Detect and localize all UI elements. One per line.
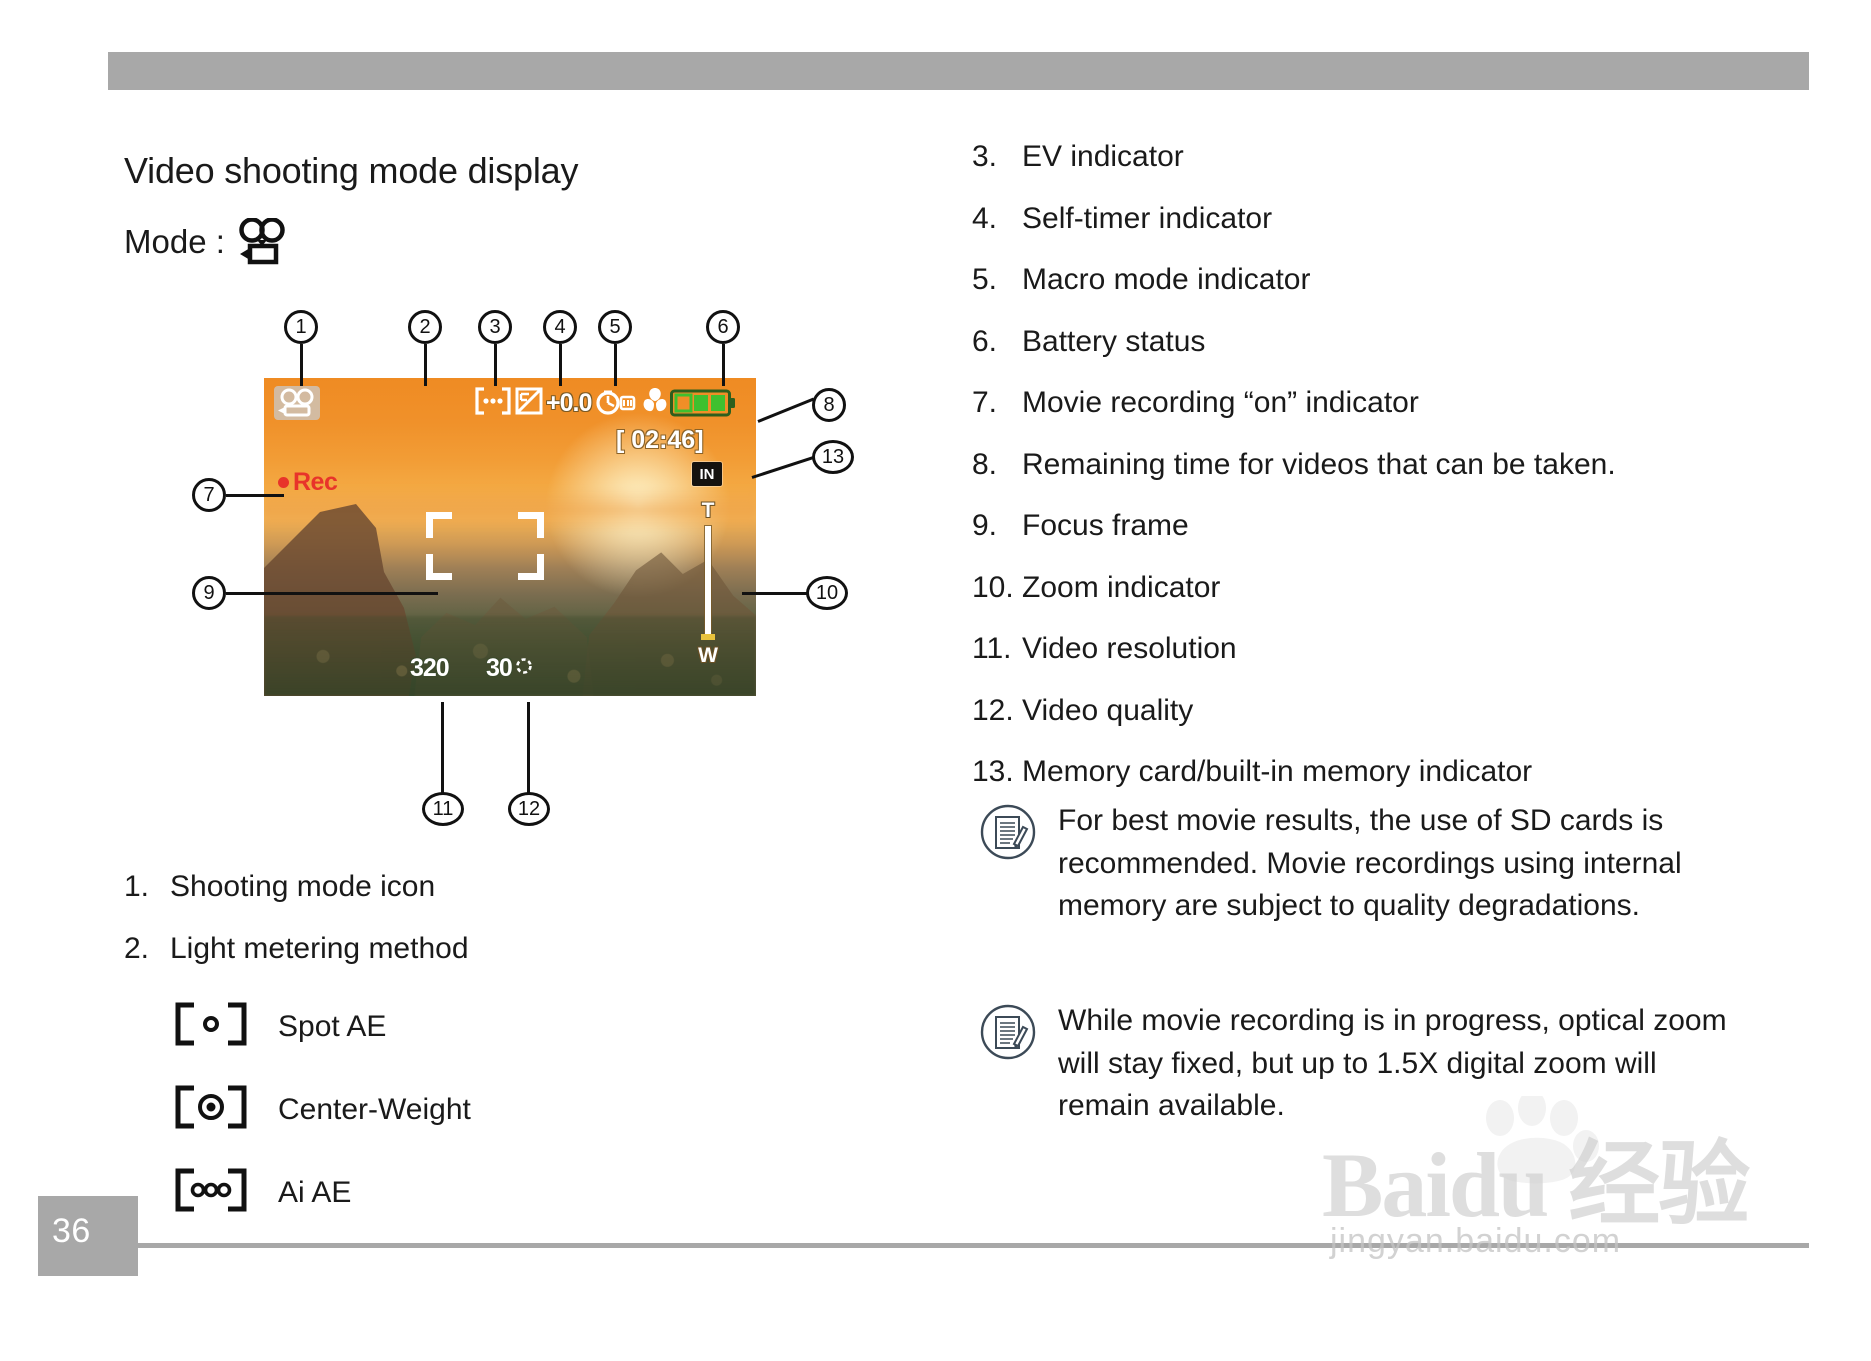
- center-weight-icon: [170, 1083, 252, 1136]
- list-item-label: Memory card/built-in memory indicator: [1022, 755, 1532, 790]
- leader-1: [300, 344, 303, 386]
- page-number: 36: [52, 1212, 91, 1251]
- list-item-label: Remaining time for videos that can be ta…: [1022, 448, 1616, 483]
- callout-6: 6: [706, 310, 740, 344]
- osd-video-quality: 30: [486, 654, 534, 683]
- list-item-number: 1.: [124, 870, 170, 904]
- osd-rec-indicator: Rec: [278, 470, 337, 495]
- list-item: 1. Shooting mode icon: [124, 870, 764, 904]
- callout-5: 5: [598, 310, 632, 344]
- zoom-wide-label: W: [696, 645, 720, 666]
- list-item-number: 9.: [972, 509, 1022, 543]
- mode-row: Mode :: [124, 218, 291, 266]
- osd-self-timer-icon: [594, 386, 636, 421]
- metering-option-spot: Spot AE: [170, 1000, 471, 1053]
- leader-3: [494, 344, 497, 386]
- list-item-number: 12.: [972, 694, 1022, 728]
- note-text: While movie recording is in progress, op…: [1058, 1000, 1740, 1128]
- focus-corner-top-left: [426, 512, 452, 538]
- leader-13: [752, 456, 814, 479]
- callout-7: 7: [192, 478, 226, 512]
- osd-memory-indicator: IN: [692, 462, 722, 486]
- note-pad-icon: [980, 804, 1036, 928]
- osd-top-icon-cluster: +0.0: [474, 386, 671, 421]
- osd-video-quality-value: 30: [486, 654, 512, 683]
- metering-legend: Spot AE Center-Weight: [170, 1000, 471, 1249]
- leader-6: [722, 344, 725, 386]
- list-item: 6. Battery status: [972, 325, 1692, 360]
- osd-shooting-mode-icon: [274, 386, 320, 425]
- lcd-preview: +0.0: [264, 378, 756, 696]
- list-item: 10. Zoom indicator: [972, 571, 1692, 606]
- watermark-url: jingyan.baidu.com: [1330, 1222, 1621, 1261]
- list-item-label: Battery status: [1022, 325, 1205, 360]
- callout-13: 13: [812, 440, 854, 474]
- list-item: 3. EV indicator: [972, 140, 1692, 175]
- focus-corner-bottom-right: [518, 554, 544, 580]
- header-bar: [108, 52, 1809, 90]
- list-item-number: 6.: [972, 325, 1022, 359]
- list-item-number: 5.: [972, 263, 1022, 297]
- manual-page: 36 Video shooting mode display Mode :: [0, 0, 1871, 1361]
- left-legend-list: 1. Shooting mode icon 2. Light metering …: [124, 870, 764, 994]
- callout-11: 11: [422, 792, 464, 826]
- osd-remaining-time: [ 02:46]: [616, 426, 704, 455]
- note-pad-icon: [980, 1004, 1036, 1128]
- spot-ae-icon: [170, 1000, 252, 1053]
- callout-2: 2: [408, 310, 442, 344]
- list-item-number: 10.: [972, 571, 1022, 605]
- list-item: 7. Movie recording “on” indicator: [972, 386, 1692, 421]
- callout-1: 1: [284, 310, 318, 344]
- list-item-label: Macro mode indicator: [1022, 263, 1310, 298]
- right-legend-list: 3. EV indicator 4. Self-timer indicator …: [972, 140, 1692, 817]
- leader-5: [614, 344, 617, 386]
- list-item: 8. Remaining time for videos that can be…: [972, 448, 1692, 483]
- osd-ev-value: +0.0: [546, 391, 591, 416]
- leader-2: [424, 344, 427, 386]
- movie-camera-icon: [235, 218, 291, 266]
- zoom-position-marker: [701, 634, 715, 640]
- list-item-label: Self-timer indicator: [1022, 202, 1272, 237]
- list-item: 2. Light metering method: [124, 932, 764, 966]
- list-item-number: 11.: [972, 632, 1022, 666]
- osd-battery-icon: [670, 388, 736, 423]
- page-title: Video shooting mode display: [124, 150, 578, 192]
- list-item: 13. Memory card/built-in memory indicato…: [972, 755, 1692, 790]
- callout-3: 3: [478, 310, 512, 344]
- metering-option-label: Spot AE: [278, 1010, 386, 1044]
- metering-option-ai-ae: Ai AE: [170, 1166, 471, 1219]
- osd-focus-frame: [426, 512, 544, 580]
- lcd-screen: +0.0: [264, 378, 756, 696]
- record-dot-icon: [278, 477, 289, 488]
- list-item-number: 13.: [972, 755, 1022, 789]
- list-item-label: Light metering method: [170, 932, 469, 966]
- watermark-brand: Baidu 经验: [1322, 1110, 1748, 1243]
- fps-circle-icon: [514, 654, 534, 683]
- leader-7: [226, 494, 284, 497]
- list-item-number: 4.: [972, 202, 1022, 236]
- callout-9: 9: [192, 576, 226, 610]
- list-item-label: Movie recording “on” indicator: [1022, 386, 1419, 421]
- list-item-number: 7.: [972, 386, 1022, 420]
- list-item: 4. Self-timer indicator: [972, 202, 1692, 237]
- osd-rec-label: Rec: [293, 470, 337, 495]
- list-item-label: Focus frame: [1022, 509, 1189, 544]
- mode-label: Mode :: [124, 223, 225, 261]
- list-item: 11. Video resolution: [972, 632, 1692, 667]
- osd-video-resolution: 320: [410, 654, 449, 683]
- list-item-label: EV indicator: [1022, 140, 1184, 175]
- leader-8: [757, 398, 814, 423]
- osd-ev-icon: [515, 387, 543, 420]
- callout-4: 4: [543, 310, 577, 344]
- leader-12: [527, 702, 530, 794]
- leader-9: [226, 592, 438, 595]
- zoom-tele-label: T: [696, 500, 720, 521]
- list-item-number: 8.: [972, 448, 1022, 482]
- osd-zoom-indicator: T W: [696, 500, 720, 666]
- leader-4: [559, 344, 562, 386]
- note-text: For best movie results, the use of SD ca…: [1058, 800, 1740, 928]
- list-item: 12. Video quality: [972, 694, 1692, 729]
- zoom-track: [705, 526, 711, 638]
- callout-8: 8: [812, 388, 846, 422]
- callout-10: 10: [806, 576, 848, 610]
- list-item-label: Zoom indicator: [1022, 571, 1220, 606]
- metering-option-label: Center-Weight: [278, 1093, 471, 1127]
- leader-10: [742, 592, 808, 595]
- osd-metering-icon: [474, 386, 512, 421]
- osd-macro-icon: [639, 386, 671, 421]
- list-item: 5. Macro mode indicator: [972, 263, 1692, 298]
- metering-option-center-weight: Center-Weight: [170, 1083, 471, 1136]
- list-item-number: 2.: [124, 932, 170, 966]
- metering-option-label: Ai AE: [278, 1176, 351, 1210]
- list-item-number: 3.: [972, 140, 1022, 174]
- note-block-sd-cards: For best movie results, the use of SD ca…: [980, 800, 1740, 928]
- list-item-label: Video resolution: [1022, 632, 1237, 667]
- callout-12: 12: [508, 792, 550, 826]
- leader-11: [441, 702, 444, 794]
- list-item-label: Video quality: [1022, 694, 1193, 729]
- note-block-digital-zoom: While movie recording is in progress, op…: [980, 1000, 1740, 1128]
- ai-ae-icon: [170, 1166, 252, 1219]
- list-item-label: Shooting mode icon: [170, 870, 435, 904]
- focus-corner-bottom-left: [426, 554, 452, 580]
- list-item: 9. Focus frame: [972, 509, 1692, 544]
- focus-corner-top-right: [518, 512, 544, 538]
